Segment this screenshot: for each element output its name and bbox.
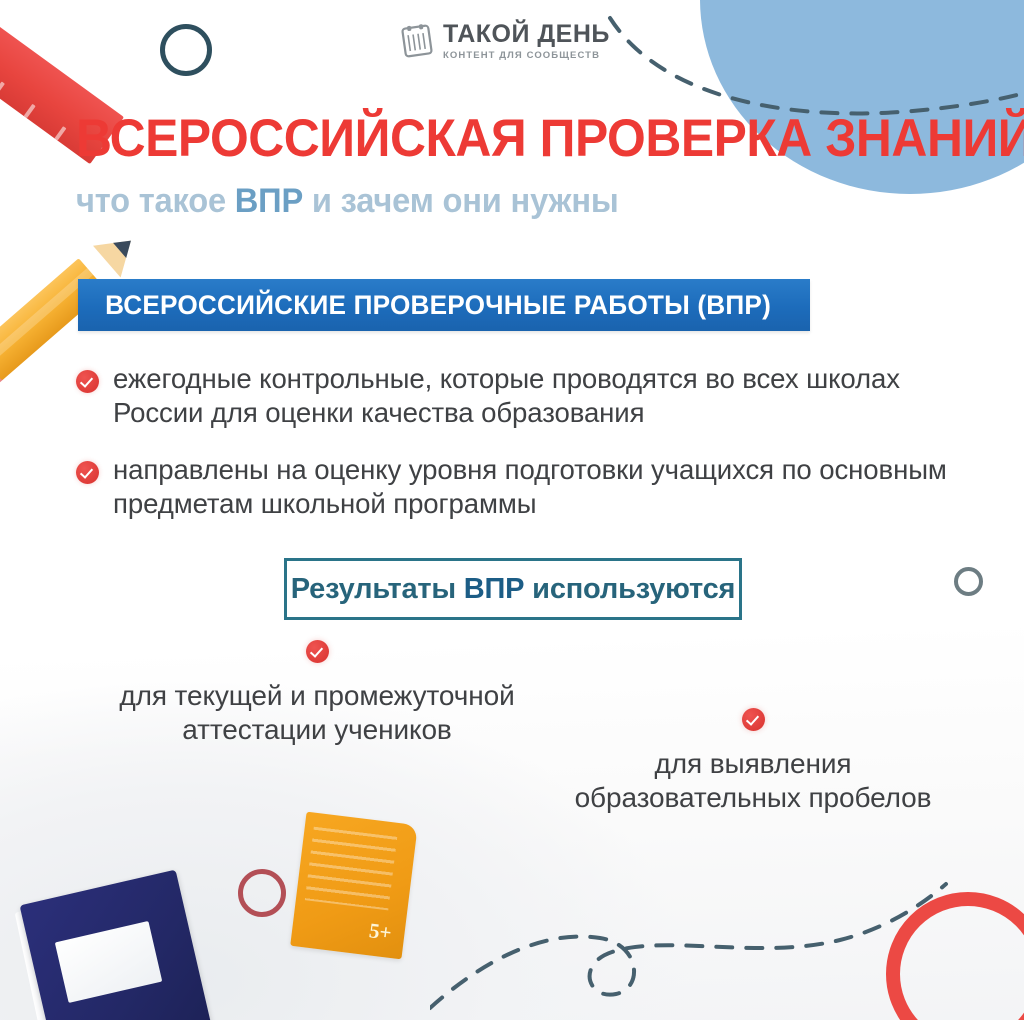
list-item-text: направлены на оценку уровня подготовки у… bbox=[113, 453, 963, 522]
brand-title: ТАКОЙ ДЕНЬ bbox=[443, 22, 610, 47]
notebook-icon bbox=[398, 22, 436, 60]
brand-logo: ТАКОЙ ДЕНЬ КОНТЕНТ ДЛЯ СООБЩЕСТВ bbox=[400, 22, 610, 61]
section-banner-label: ВСЕРОССИЙСКИЕ ПРОВЕРОЧНЫЕ РАБОТЫ (ВПР) bbox=[78, 290, 771, 321]
subtitle-highlight: ВПР bbox=[235, 182, 303, 220]
outcome-item-attestation: для текущей и промежуточной аттестации у… bbox=[78, 640, 556, 746]
results-highlight: ВПР bbox=[464, 573, 525, 605]
infographic-poster: 5+ ТАКОЙ ДЕНЬ КОНТЕНТ ДЛЯ СООБЩЕСТВ bbox=[0, 0, 1024, 1020]
outcome-label: для выявления образовательных пробелов bbox=[514, 747, 992, 814]
list-item: ежегодные контрольные, которые проводятс… bbox=[76, 362, 976, 431]
check-circle-icon bbox=[306, 640, 329, 663]
page-title: ВСЕРОССИЙСКАЯ ПРОВЕРКА ЗНАНИЙ bbox=[76, 112, 903, 165]
results-part-before: Результаты bbox=[291, 573, 464, 605]
results-callout-box: Результаты ВПР используются bbox=[284, 558, 742, 620]
bullet-list: ежегодные контрольные, которые проводятс… bbox=[76, 362, 976, 544]
check-circle-icon bbox=[76, 461, 99, 484]
brand-subtitle: КОНТЕНТ ДЛЯ СООБЩЕСТВ bbox=[443, 51, 610, 61]
page-subtitle: что такое ВПР и зачем они нужны bbox=[76, 182, 619, 221]
check-circle-icon bbox=[76, 370, 99, 393]
subtitle-part-before: что такое bbox=[76, 182, 235, 220]
orange-notepad-icon: 5+ bbox=[290, 812, 418, 960]
subtitle-part-after: и зачем они нужны bbox=[303, 182, 619, 220]
orange-pad-grade: 5+ bbox=[368, 918, 393, 946]
section-banner: ВСЕРОССИЙСКИЕ ПРОВЕРОЧНЫЕ РАБОТЫ (ВПР) bbox=[78, 279, 810, 331]
check-circle-icon bbox=[742, 708, 765, 731]
outcome-item-gaps: для выявления образовательных пробелов bbox=[514, 708, 992, 814]
red-ring-icon bbox=[886, 892, 1024, 1020]
navy-notebook-icon bbox=[20, 870, 221, 1020]
outcome-label: для текущей и промежуточной аттестации у… bbox=[78, 679, 556, 746]
list-item: направлены на оценку уровня подготовки у… bbox=[76, 453, 976, 522]
list-item-text: ежегодные контрольные, которые проводятс… bbox=[113, 362, 963, 431]
maroon-ring-icon bbox=[238, 869, 286, 917]
teal-ring-icon bbox=[160, 24, 212, 76]
results-part-after: используются bbox=[524, 573, 735, 605]
results-callout-label: Результаты ВПР используются bbox=[291, 573, 736, 606]
gray-ring-icon bbox=[954, 567, 983, 596]
bottom-dashed-curve-icon bbox=[430, 868, 950, 1018]
